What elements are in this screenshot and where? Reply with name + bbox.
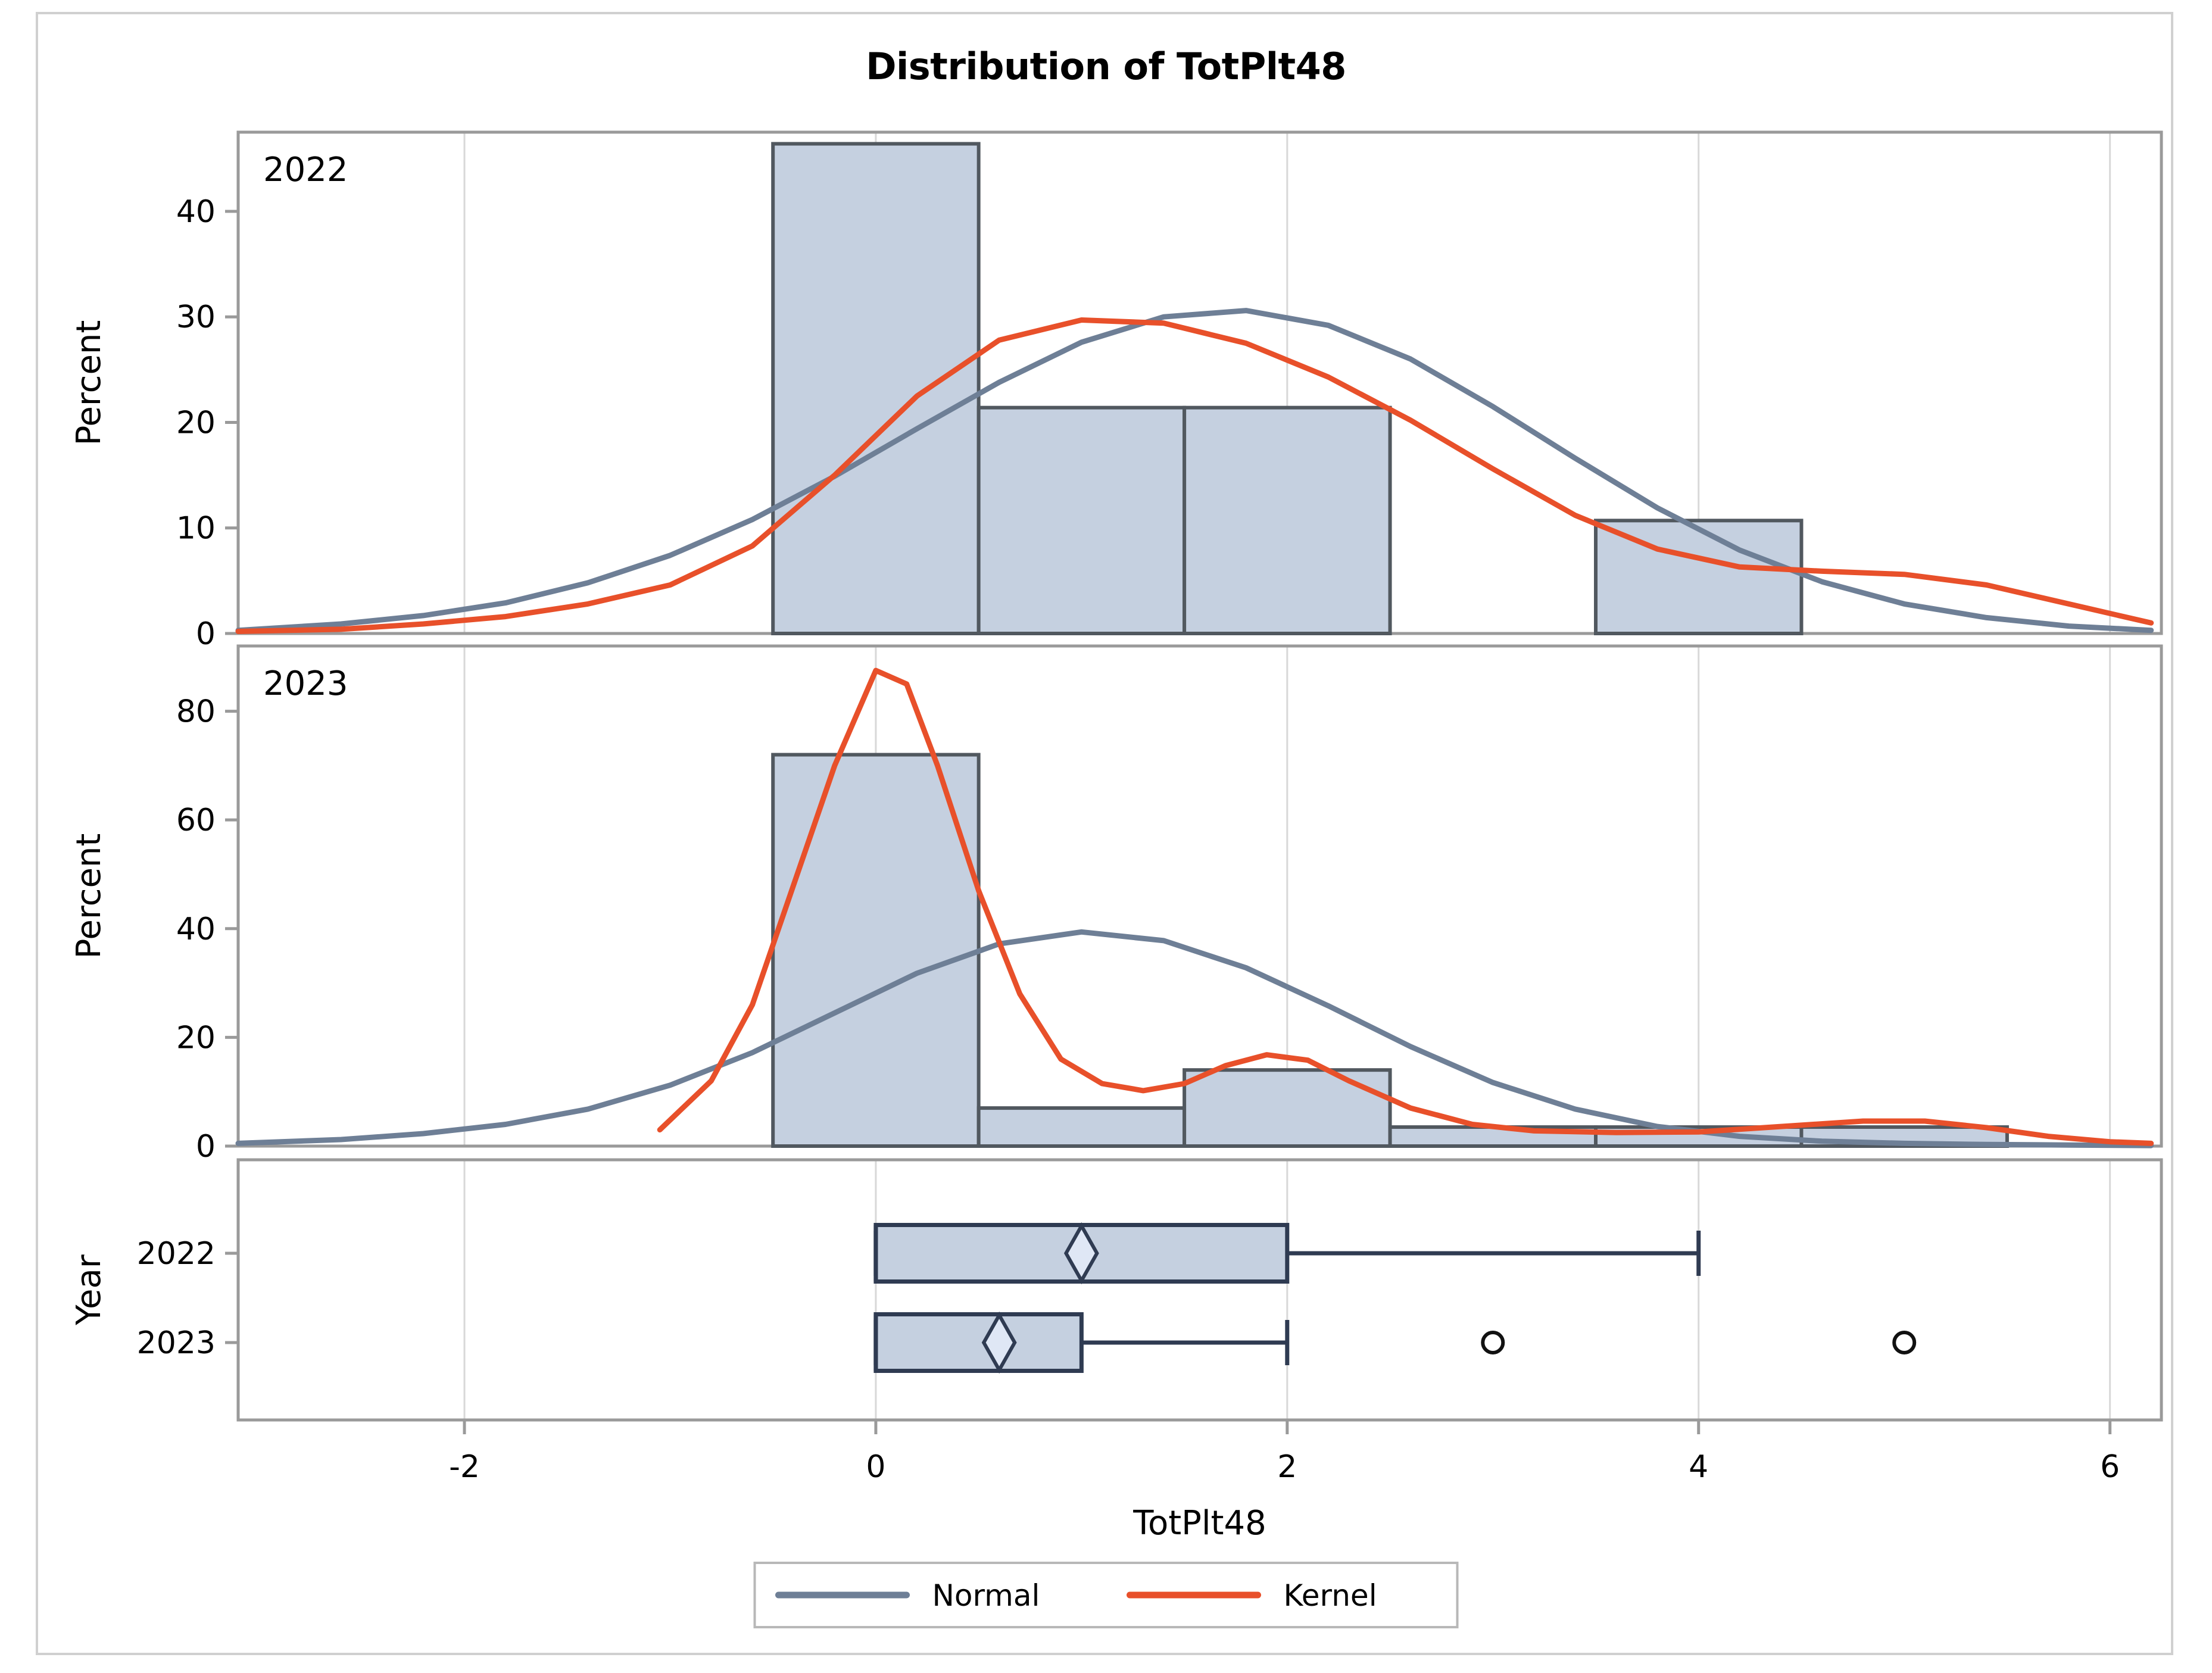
- ytick-label-2022-40: 40: [176, 194, 216, 230]
- histogram-bar[interactable]: [1184, 1070, 1390, 1146]
- chart-plot-area: 010203040Percent2022020406080Percent2023…: [0, 0, 2212, 1673]
- boxplot-box-2023[interactable]: [876, 1315, 1081, 1371]
- legend-label-normal: Normal: [932, 1578, 1040, 1613]
- boxplot-category-2022: 2022: [137, 1236, 216, 1272]
- histogram-bar[interactable]: [773, 143, 978, 633]
- yaxis-title-year: Year: [70, 1254, 108, 1326]
- yaxis-title-2023: Percent: [70, 834, 108, 959]
- histogram-bar[interactable]: [979, 408, 1184, 633]
- boxplot-outlier[interactable]: [1894, 1332, 1914, 1353]
- panel-label-2023: 2023: [263, 664, 348, 703]
- ytick-label-2023-60: 60: [176, 803, 216, 838]
- boxplot-outlier[interactable]: [1483, 1332, 1503, 1353]
- xaxis-title: TotPlt48: [1132, 1504, 1266, 1543]
- ytick-label-2022-20: 20: [176, 405, 216, 441]
- xtick-label-0: 0: [866, 1449, 885, 1485]
- ytick-label-2023-40: 40: [176, 912, 216, 947]
- ytick-label-2023-20: 20: [176, 1020, 216, 1056]
- ytick-label-2022-0: 0: [196, 616, 216, 652]
- ytick-label-2023-0: 0: [196, 1129, 216, 1165]
- yaxis-title-2022: Percent: [70, 320, 108, 446]
- xtick-label-4: 4: [1689, 1449, 1708, 1485]
- ytick-label-2022-10: 10: [176, 511, 216, 547]
- panel-label-2022: 2022: [263, 151, 348, 189]
- ytick-label-2022-30: 30: [176, 299, 216, 335]
- xtick-label--2: -2: [449, 1449, 480, 1485]
- histogram-bar[interactable]: [1184, 408, 1390, 633]
- boxplot-panel-frame[interactable]: [238, 1160, 2161, 1420]
- xtick-label-2: 2: [1277, 1449, 1297, 1485]
- histogram-bar[interactable]: [773, 755, 978, 1146]
- distribution-plot-svg: 010203040Percent2022020406080Percent2023…: [0, 0, 2212, 1673]
- histogram-bar[interactable]: [979, 1108, 1184, 1146]
- boxplot-category-2023: 2023: [137, 1325, 216, 1361]
- xtick-label-6: 6: [2100, 1449, 2120, 1485]
- legend-label-kernel: Kernel: [1284, 1578, 1377, 1613]
- ytick-label-2023-80: 80: [176, 694, 216, 730]
